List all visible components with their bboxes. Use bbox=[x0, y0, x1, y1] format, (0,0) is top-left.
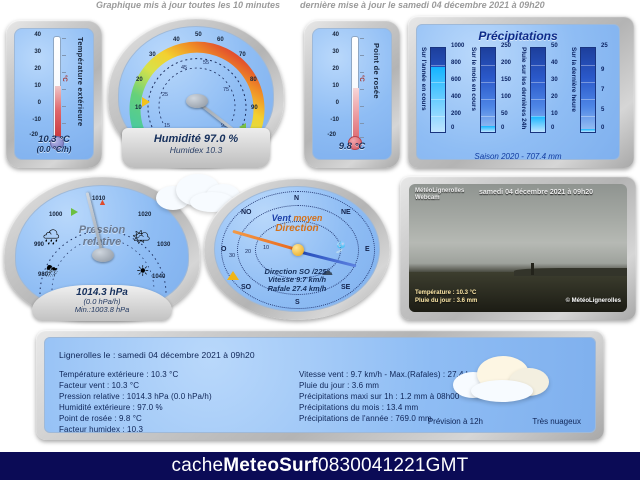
compass-n: N bbox=[294, 195, 299, 202]
pressure-min: Min.:1003.8 hPa bbox=[32, 306, 172, 314]
thermometer-tube-wrap bbox=[338, 36, 372, 148]
wind-gust-value: Rafale 27.4 km/h bbox=[215, 285, 379, 294]
humidity-tick: 90 bbox=[251, 105, 258, 111]
humidity-inner-tick: 75 bbox=[223, 87, 229, 93]
scale-tick: 9 bbox=[601, 67, 604, 73]
precip-season-total: Saison 2020 - 707.4 mm bbox=[417, 152, 619, 160]
footer-bar: cache MeteoSurf 0830041221GMT bbox=[0, 452, 640, 480]
precip-column-month[interactable]: Sur le mois en cours 250 200 150 100 50 … bbox=[471, 47, 517, 159]
precipitation-title: Précipitations bbox=[417, 29, 619, 43]
scale-tick: 40 bbox=[551, 60, 558, 66]
scale-tick: 50 bbox=[501, 111, 508, 117]
webcam-station-overlay: MétéoLignerolles Webcam bbox=[415, 188, 464, 201]
scale-tick: 30 bbox=[551, 77, 558, 83]
precip-column-label: Sur le mois en cours bbox=[470, 47, 477, 133]
unit-label: °C bbox=[61, 75, 67, 82]
humidity-tick: 50 bbox=[195, 32, 202, 38]
baro-tick: 1020 bbox=[138, 212, 151, 218]
wind-readout: Direction SO /225° Vitesse 9.7 km/h Rafa… bbox=[215, 268, 379, 294]
overcast-cloud-icon bbox=[451, 346, 555, 404]
summary-row: Facteur vent : 10.3 °C bbox=[59, 380, 212, 391]
rain-cloud-icon: 🌧 bbox=[42, 230, 61, 245]
precip-bar bbox=[480, 47, 496, 133]
scale-tick: 0 bbox=[551, 125, 554, 131]
compass-s: S bbox=[295, 299, 300, 306]
wind-title-b: moyen bbox=[293, 213, 322, 223]
humidity-value: Humidité 97.0 % bbox=[122, 133, 270, 145]
humidity-readout: Humidité 97.0 % Humidex 10.3 bbox=[122, 128, 270, 168]
footer-prefix: cache bbox=[172, 455, 224, 477]
thermometer-tube-wrap bbox=[40, 36, 74, 148]
precip-bar bbox=[580, 47, 596, 133]
webcam-station-line1: MétéoLignerolles bbox=[415, 188, 464, 195]
thermometer-face: 40 30 20 10 0 -10 -20 Point de rosée °C … bbox=[312, 28, 392, 160]
precip-value: 9.4 mm bbox=[517, 159, 573, 160]
storm-cloud-icon: ⛈ bbox=[46, 264, 58, 279]
forecast-value: Très nuageux bbox=[532, 417, 581, 426]
humidity-tick: 70 bbox=[239, 52, 246, 58]
scale-tick: 20 bbox=[551, 94, 558, 100]
humidex-value: Humidex 10.3 bbox=[122, 145, 270, 155]
humidity-tick: 20 bbox=[136, 77, 143, 83]
summary-row: Pression relative : 1014.3 hPa (0.0 hPa/… bbox=[59, 391, 212, 402]
summary-row: Humidité extérieure : 97.0 % bbox=[59, 402, 212, 413]
webcam-station-line2: Webcam bbox=[415, 195, 464, 202]
dewpoint-value: 9.8 °C bbox=[313, 142, 391, 152]
precip-column-label: Pluie sur les dernières 24h bbox=[520, 47, 527, 133]
scale-tick: 7 bbox=[601, 87, 604, 93]
scale-tick: 0 bbox=[601, 125, 604, 131]
thermometer-tube bbox=[53, 36, 61, 140]
sun-cloud-icon: 🌤 bbox=[132, 230, 151, 245]
summary-face: Lignerolles le : samedi 04 décembre 2021… bbox=[44, 337, 596, 433]
humidity-tick: 60 bbox=[217, 37, 224, 43]
compass-o: O bbox=[221, 246, 226, 253]
scale-tick: 150 bbox=[501, 77, 511, 83]
outdoor-temp-label: Température extérieure bbox=[76, 37, 85, 126]
needle-hub bbox=[92, 248, 114, 262]
min-marker-icon bbox=[142, 97, 150, 107]
scale-tick: 0 bbox=[501, 125, 504, 131]
footer-brand: MeteoSurf bbox=[223, 455, 318, 477]
baro-tick: 1040 bbox=[152, 274, 165, 280]
wind-title-a: Vent bbox=[272, 213, 291, 223]
summary-row: Facteur humidex : 10.3 bbox=[59, 424, 212, 433]
tick-label: 20 bbox=[321, 66, 339, 72]
webcam-rain-overlay: Pluie du jour : 3.6 mm bbox=[415, 298, 477, 304]
humidity-gauge-widget[interactable]: 10 20 30 40 50 60 70 80 90 25 45 55 75 1… bbox=[108, 18, 284, 166]
header-left-text: Graphique mis à jour toutes les 10 minut… bbox=[96, 0, 280, 10]
max-marker-icon: ▲ bbox=[98, 197, 107, 207]
precip-column-24h[interactable]: Pluie sur les dernières 24h 50 40 30 20 … bbox=[521, 47, 567, 159]
tick-label: 0 bbox=[23, 100, 41, 106]
scale-tick: 600 bbox=[451, 77, 461, 83]
tick-label: 0 bbox=[321, 100, 339, 106]
outdoor-temp-value: 10.3 °C bbox=[15, 135, 93, 145]
precip-column-year[interactable]: Sur l'année en cours 1000 800 600 400 20… bbox=[421, 47, 467, 159]
dewpoint-readout: 9.8 °C bbox=[313, 142, 391, 152]
precip-value: 769.0 mm bbox=[417, 159, 473, 160]
wind-title: Vent moyen bbox=[215, 213, 379, 223]
humidity-tick: 80 bbox=[250, 77, 257, 83]
tick-label: 40 bbox=[23, 32, 41, 38]
needle-hub bbox=[186, 94, 208, 108]
header-right-text: dernière mise à jour le samedi 04 décemb… bbox=[300, 0, 545, 10]
scale-tick: 25 bbox=[601, 43, 608, 49]
ring-label-30: 30 bbox=[229, 253, 235, 259]
ring-label-20: 20 bbox=[245, 249, 251, 255]
tick-label: -10 bbox=[321, 117, 339, 123]
precip-bar-fill bbox=[481, 126, 495, 132]
precip-bar-fill bbox=[581, 129, 595, 132]
forecast-label: Prévision à 12h bbox=[428, 417, 483, 426]
precip-column-label: Sur l'année en cours bbox=[420, 47, 427, 133]
precip-column-hour[interactable]: Sur la dernière heure 25 9 7 5 0 0.8 mm bbox=[571, 47, 617, 159]
scale-tick: 50 bbox=[551, 43, 558, 49]
outdoor-thermometer-widget[interactable]: 40 30 20 10 0 -10 -20 Température extéri… bbox=[6, 20, 102, 168]
tick-label: 20 bbox=[23, 66, 41, 72]
webcam-post bbox=[531, 263, 534, 275]
humidity-inner-tick: 25 bbox=[162, 92, 168, 98]
weather-dashboard: Graphique mis à jour toutes les 10 minut… bbox=[0, 0, 640, 480]
precip-bar-fill bbox=[531, 116, 545, 132]
humidity-tick: 30 bbox=[149, 52, 156, 58]
humidity-inner-tick: 55 bbox=[203, 60, 209, 66]
compass-e: E bbox=[365, 246, 370, 253]
outdoor-temp-readout: 10.3 °C (0.0 °C/h) bbox=[15, 135, 93, 155]
humidity-tick: 10 bbox=[135, 105, 142, 111]
precip-bar bbox=[530, 47, 546, 133]
tick-label: 40 bbox=[321, 32, 339, 38]
precip-value: 13.4 mm bbox=[467, 159, 523, 160]
baro-tick: 1000 bbox=[49, 212, 62, 218]
tick-label: -20 bbox=[318, 132, 336, 138]
webcam-image: MétéoLignerolles Webcam samedi 04 décemb… bbox=[409, 184, 627, 312]
tick-label: 30 bbox=[321, 49, 339, 55]
scale-tick: 200 bbox=[501, 60, 511, 66]
precip-column-label: Sur la dernière heure bbox=[570, 47, 577, 133]
precip-value: 0.8 mm bbox=[567, 159, 620, 160]
summary-left-column: Température extérieure : 10.3 °C Facteur… bbox=[59, 369, 212, 433]
sun-icon: ☀ bbox=[136, 264, 149, 279]
tick-label: 30 bbox=[23, 49, 41, 55]
scale-tick: 400 bbox=[451, 94, 461, 100]
thermometer-face: 40 30 20 10 0 -10 -20 Température extéri… bbox=[14, 28, 94, 160]
summary-row: Point de rosée : 9.8 °C bbox=[59, 413, 212, 424]
wind-compass-widget[interactable]: N NE E SE S SO O NO 10 20 30 Vent moyen … bbox=[204, 178, 390, 320]
webcam-widget[interactable]: MétéoLignerolles Webcam samedi 04 décemb… bbox=[400, 176, 636, 320]
humidity-inner-tick: 45 bbox=[181, 65, 187, 71]
wind-compass-face: N NE E SE S SO O NO 10 20 30 Vent moyen … bbox=[214, 186, 380, 312]
scale-tick: 800 bbox=[451, 60, 461, 66]
scale-tick: 10 bbox=[551, 111, 558, 117]
webcam-temp-overlay: Température : 10.3 °C bbox=[415, 290, 476, 296]
precipitation-face: Précipitations Sur l'année en cours 1000… bbox=[416, 24, 620, 160]
footer-stamp: 0830041221GMT bbox=[318, 455, 468, 477]
scale-tick: 5 bbox=[601, 107, 604, 113]
header-strip: Graphique mis à jour toutes les 10 minut… bbox=[0, 0, 640, 13]
windsock-icon: 🎐 bbox=[333, 241, 348, 253]
ring-label-10: 10 bbox=[263, 245, 269, 251]
scale-tick: 200 bbox=[451, 111, 461, 117]
webcam-timestamp: samedi 04 décembre 2021 à 09h20 bbox=[479, 189, 593, 196]
outdoor-temp-trend: (0.0 °C/h) bbox=[15, 145, 93, 155]
scale-tick: 0 bbox=[451, 125, 454, 131]
compass-center-hub bbox=[292, 244, 304, 256]
tick-label: -10 bbox=[23, 117, 41, 123]
mercury-column bbox=[353, 88, 359, 139]
precipitation-panel[interactable]: Précipitations Sur l'année en cours 1000… bbox=[408, 16, 634, 168]
mercury-column bbox=[55, 86, 61, 139]
barometer-readout: 1014.3 hPa (0.0 hPa/h) Min.:1003.8 hPa bbox=[32, 285, 172, 321]
humidity-tick: 40 bbox=[173, 37, 180, 43]
precip-bar bbox=[430, 47, 446, 133]
thermometer-tube bbox=[351, 36, 359, 140]
unit-label: °C bbox=[358, 75, 364, 82]
tick-label: 10 bbox=[321, 83, 339, 89]
dewpoint-thermometer-widget[interactable]: 40 30 20 10 0 -10 -20 Point de rosée °C … bbox=[304, 20, 400, 168]
dewpoint-label: Point de rosée bbox=[372, 43, 381, 99]
min-marker-icon bbox=[71, 208, 78, 216]
scale-tick: 1000 bbox=[451, 43, 464, 49]
webcam-copyright: © MétéoLignerolles bbox=[566, 298, 621, 304]
scale-tick: 250 bbox=[501, 43, 511, 49]
summary-title: Lignerolles le : samedi 04 décembre 2021… bbox=[59, 350, 255, 360]
summary-row: Température extérieure : 10.3 °C bbox=[59, 369, 212, 380]
scale-tick: 100 bbox=[501, 94, 511, 100]
tick-label: 10 bbox=[23, 83, 41, 89]
summary-panel[interactable]: Lignerolles le : samedi 04 décembre 2021… bbox=[36, 330, 604, 440]
